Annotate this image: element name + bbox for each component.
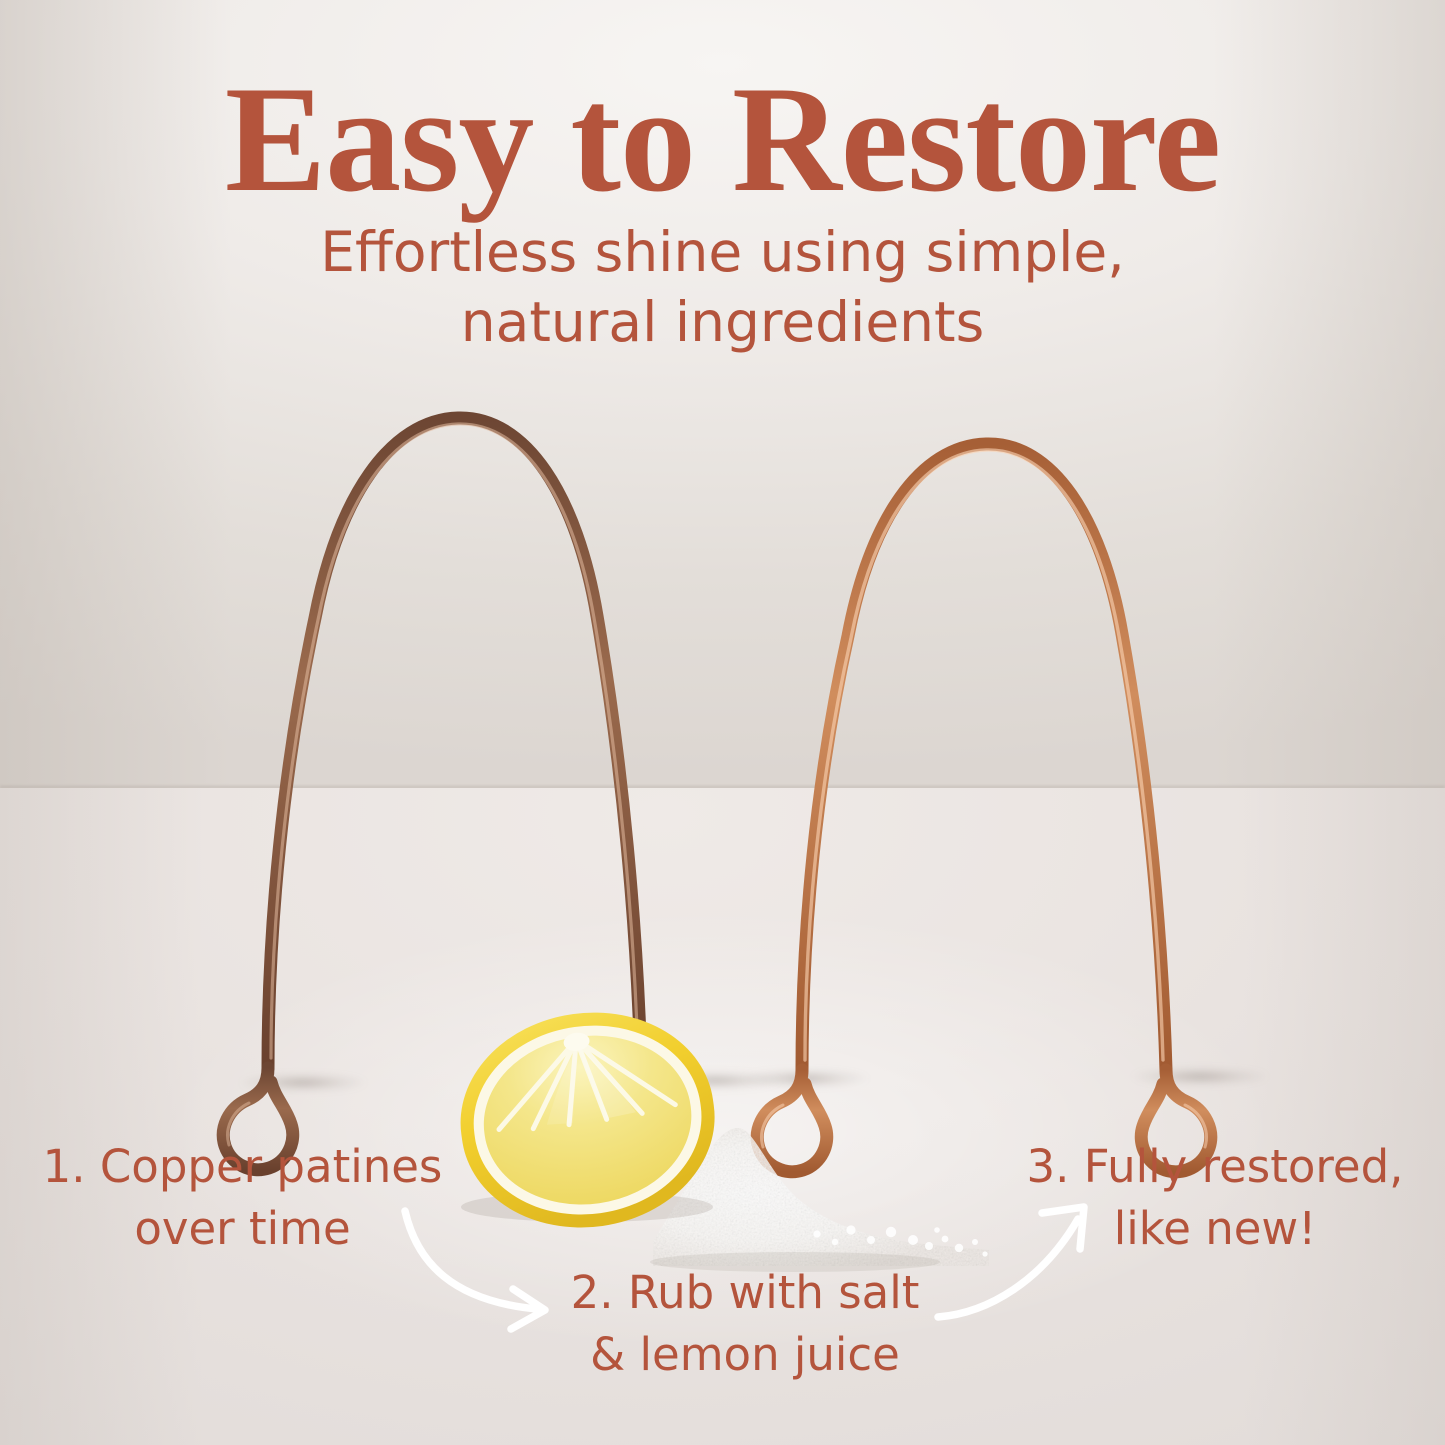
step-2-line-2: & lemon juice (520, 1324, 970, 1386)
subtitle-line-2: natural ingredients (0, 288, 1445, 358)
step-3-line-2: like new! (1000, 1198, 1430, 1260)
subtitle-line-1: Effortless shine using simple, (0, 218, 1445, 288)
copper-tong-patinated (205, 368, 745, 1098)
lemon-wedge (447, 1005, 729, 1223)
step-2-caption: 2. Rub with salt & lemon juice (520, 1262, 970, 1386)
page-title: Easy to Restore (0, 62, 1445, 217)
step-1-line-2: over time (30, 1198, 455, 1260)
step-2-line-1: 2. Rub with salt (520, 1262, 970, 1324)
infographic-canvas: Easy to Restore Effortless shine using s… (0, 0, 1445, 1445)
step-3-caption: 3. Fully restored, like new! (1000, 1136, 1430, 1260)
step-3-line-1: 3. Fully restored, (1000, 1136, 1430, 1198)
step-1-line-1: 1. Copper patines (30, 1136, 455, 1198)
copper-tong-restored (740, 398, 1260, 1098)
page-subtitle: Effortless shine using simple, natural i… (0, 218, 1445, 358)
step-1-caption: 1. Copper patines over time (30, 1136, 455, 1260)
